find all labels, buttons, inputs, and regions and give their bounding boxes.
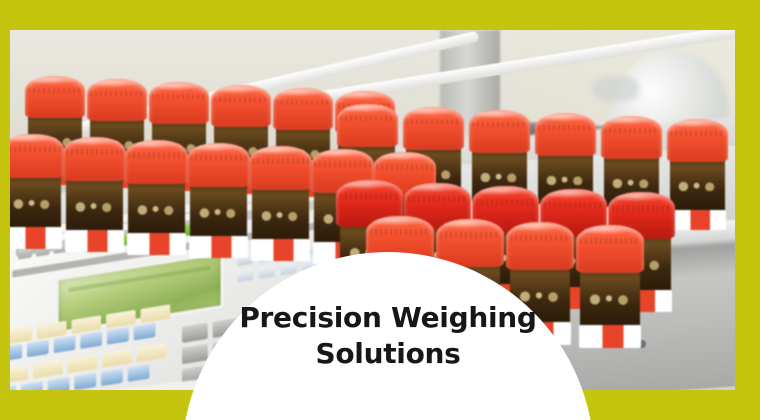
bottle-cap-highlight [514, 223, 565, 232]
bottle-cap-highlight [132, 141, 181, 149]
bottle-cap-highlight [218, 86, 264, 94]
bottle-cap-highlight [194, 144, 243, 152]
bottle-cap-grip [128, 152, 184, 157]
glass-flask-neck [593, 76, 639, 102]
bottle-cap-grip [152, 94, 205, 99]
bottle-cap-highlight [344, 181, 394, 189]
bottle-cap-grip [408, 196, 466, 202]
bottle-cap-grip [670, 131, 724, 136]
bottle-cap [601, 116, 663, 159]
bottle-cap [25, 76, 85, 118]
bottle-contents [71, 202, 119, 212]
bottle-label [10, 227, 62, 248]
bottle-body [10, 172, 61, 235]
bottle-cap-grip [440, 232, 499, 238]
bottle-cap [337, 104, 399, 147]
bottle-cap-highlight [412, 184, 462, 192]
bottle-cap-highlight [280, 89, 326, 97]
bottle [128, 140, 185, 241]
bottle-cap [273, 88, 333, 130]
bottle-cap-grip [340, 193, 398, 199]
bottle-cap-grip [580, 238, 639, 244]
bottle-contents [195, 208, 243, 218]
bottle-cap [506, 222, 573, 270]
bottle-label [669, 210, 726, 231]
page-title: Precision Weighing Solutions [182, 300, 594, 372]
bottle-contents [10, 199, 56, 209]
bottle-cap-grip [252, 158, 308, 163]
bottle-cap-grip [340, 116, 394, 121]
bottle [190, 143, 247, 244]
bottle-cap [187, 143, 251, 187]
banner: Precision Weighing Solutions [0, 0, 760, 420]
bottle [10, 134, 61, 235]
bottle-cap-grip [276, 100, 329, 105]
bottle-cap-highlight [374, 217, 425, 226]
bottle-label [251, 239, 310, 260]
bottle-cap [211, 85, 271, 127]
bottle-cap-grip [28, 88, 81, 93]
bottle-cap-grip [66, 149, 122, 154]
bottle-cap [125, 140, 189, 184]
bottle-cap [149, 82, 209, 124]
bottle-cap-highlight [10, 135, 57, 143]
bottle-cap-highlight [480, 187, 530, 195]
bottle-cap [469, 110, 531, 153]
bottle-cap-highlight [548, 190, 598, 198]
bottle-cap-grip [376, 164, 432, 169]
bottle-contents [133, 205, 181, 215]
bottle-body [128, 178, 185, 241]
bottle-cap-highlight [584, 226, 635, 235]
headline-line-1: Precision Weighing [182, 300, 594, 336]
bottle-cap [10, 134, 64, 178]
bottle-contents [257, 211, 305, 221]
bottle-cap-grip [190, 155, 246, 160]
bottle-cap-highlight [256, 147, 305, 155]
bottle-cap [667, 119, 729, 162]
bottle-cap-grip [472, 122, 526, 127]
bottle-label [189, 236, 248, 257]
bottle-body [66, 175, 123, 238]
bottle-cap-grip [476, 199, 534, 205]
bottle-cap-grip [314, 161, 370, 166]
bottle-cap-highlight [342, 92, 388, 100]
bottle-contents [674, 182, 720, 192]
bottle-cap [576, 225, 643, 273]
bottle-cap-grip [544, 202, 602, 208]
bottle-cap-grip [10, 146, 61, 151]
bottle-cap-grip [604, 128, 658, 133]
bottle-body [670, 156, 725, 217]
bottle-cap-highlight [616, 193, 666, 201]
bottle-body [190, 181, 247, 244]
bottle-contents [542, 176, 588, 186]
bottle-cap-grip [510, 235, 569, 241]
bottle-cap-highlight [344, 105, 391, 113]
bottle-label [65, 230, 124, 251]
bottle-cap-highlight [318, 150, 367, 158]
bottle-cap [436, 219, 503, 267]
bottle [252, 146, 309, 247]
bottle-cap-highlight [70, 138, 119, 146]
headline-line-2: Solutions [182, 336, 594, 372]
bottle-cap [63, 137, 127, 181]
bottle-cap-highlight [156, 83, 202, 91]
bottle-cap [403, 107, 465, 150]
bottle-cap-highlight [674, 120, 721, 128]
bottle-cap [535, 113, 597, 156]
bottle-contents [608, 179, 654, 189]
bottle-cap-grip [612, 205, 670, 211]
bottle-cap-grip [370, 229, 429, 235]
bottle-cap-highlight [410, 108, 457, 116]
bottle-cap-highlight [94, 80, 140, 88]
bottle-cap-grip [90, 91, 143, 96]
bottle [670, 119, 725, 217]
bottle-cap-grip [406, 119, 460, 124]
bottle-body [252, 184, 309, 247]
bottle-cap-highlight [444, 220, 495, 229]
bottle-cap [87, 79, 147, 121]
bottle-cap [249, 146, 313, 190]
bottle [66, 137, 123, 238]
bottle-cap-grip [538, 125, 592, 130]
bottle-cap-highlight [608, 117, 655, 125]
bottle-cap-highlight [542, 114, 589, 122]
bottle-label [127, 233, 186, 254]
bottle-cap-highlight [32, 77, 78, 85]
bottle-cap-highlight [380, 153, 429, 161]
bottle-cap-highlight [476, 111, 523, 119]
bottle-cap-grip [214, 97, 267, 102]
bottle-contents [476, 173, 522, 183]
